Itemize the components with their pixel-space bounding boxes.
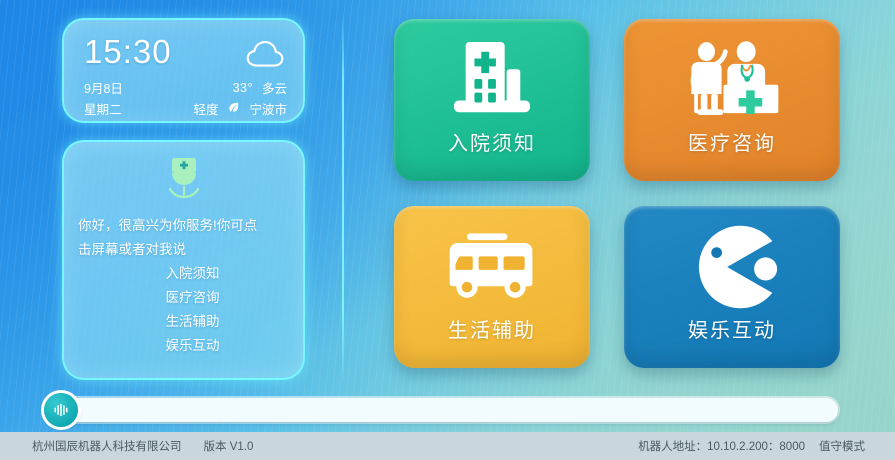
assistant-panel: 你好，很高兴为你服务!你可点 击屏幕或者对我说 入院须知 医疗咨询 生活辅助 娱… [62, 140, 305, 380]
leaf-icon [227, 101, 240, 117]
weather-row-secondary: 星期二 轻度 宁波市 [84, 99, 287, 118]
tile-medical-consultation[interactable]: 医疗咨询 [624, 19, 840, 181]
assistant-option-3[interactable]: 娱乐互动 [78, 334, 289, 358]
greeting-line-1: 你好，很高兴为你服务!你可点 [78, 214, 289, 238]
tile-label: 医疗咨询 [688, 127, 776, 156]
bus-icon [442, 222, 542, 312]
voice-waveform-icon[interactable] [44, 393, 78, 427]
robot-address-value: 10.10.2.200：8000 [707, 441, 805, 453]
nurse-avatar-icon [157, 155, 211, 207]
mode-label: 值守模式 [819, 438, 865, 454]
pacman-icon [684, 222, 780, 312]
vertical-divider [342, 14, 344, 386]
air-quality-level: 轻度 [193, 99, 218, 118]
clock-time: 15:30 [84, 33, 172, 71]
tile-label: 生活辅助 [448, 314, 536, 343]
assistant-option-0[interactable]: 入院须知 [78, 262, 289, 286]
company-name: 杭州国辰机器人科技有限公司 [32, 438, 182, 454]
weather-date: 9月8日 [84, 78, 123, 97]
status-footer: 杭州国辰机器人科技有限公司 版本 V1.0 机器人地址：10.10.2.200：… [0, 432, 895, 460]
robot-address: 机器人地址：10.10.2.200：8000 [638, 438, 805, 454]
cloud-icon [245, 40, 285, 68]
doctor-patient-icon [680, 35, 784, 125]
hospital-building-icon [446, 35, 538, 125]
assistant-option-1[interactable]: 医疗咨询 [78, 286, 289, 310]
robot-address-label: 机器人地址： [638, 441, 707, 453]
weather-temperature: 33° [233, 81, 253, 95]
tile-life-assistance[interactable]: 生活辅助 [394, 206, 590, 368]
main-stage: 15:30 9月8日 33° 多云 星期二 轻度 宁波市 [0, 0, 895, 432]
tile-admission-notice[interactable]: 入院须知 [394, 19, 590, 181]
assistant-option-2[interactable]: 生活辅助 [78, 310, 289, 334]
weather-panel: 15:30 9月8日 33° 多云 星期二 轻度 宁波市 [62, 18, 305, 123]
tile-label: 娱乐互动 [688, 314, 776, 343]
weather-row-primary: 9月8日 33° 多云 [84, 78, 287, 97]
tile-label: 入院须知 [448, 127, 536, 156]
weather-city: 宁波市 [249, 99, 287, 118]
version-label: 版本 V1.0 [204, 438, 254, 454]
tile-entertainment[interactable]: 娱乐互动 [624, 206, 840, 368]
weather-condition: 多云 [262, 78, 287, 97]
greeting-line-2: 击屏幕或者对我说 [78, 238, 289, 262]
voice-input-bar[interactable] [48, 398, 838, 422]
weather-weekday: 星期二 [84, 99, 122, 118]
assistant-message: 你好，很高兴为你服务!你可点 击屏幕或者对我说 入院须知 医疗咨询 生活辅助 娱… [78, 214, 289, 358]
